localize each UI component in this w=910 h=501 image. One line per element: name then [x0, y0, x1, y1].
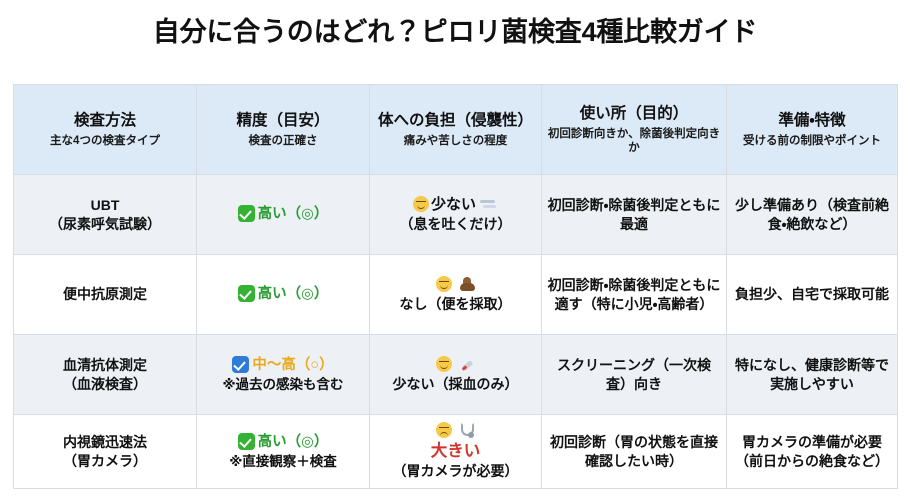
header-row: 検査方法 主な4つの検査タイプ 精度（目安） 検査の正確さ 体への負担（侵襲性）… — [14, 85, 898, 175]
column-header-prep-title: 準備・特徴 — [732, 111, 892, 131]
cell-accuracy: 高い（◎） ※直接観察＋検査 — [197, 415, 370, 489]
method-detail: （尿素呼気試験） — [19, 215, 191, 233]
stethoscope-icon — [459, 422, 475, 438]
accuracy-value-line: 高い（◎） — [202, 285, 364, 304]
cell-accuracy: 中〜高（○） ※過去の感染も含む — [197, 335, 370, 415]
column-header-purpose-title: 使い所（目的） — [547, 104, 721, 124]
column-header-accuracy-subtitle: 検査の正確さ — [202, 134, 364, 148]
column-header-purpose: 使い所（目的） 初回診断向きか、除菌後判定向きか — [542, 85, 727, 175]
comparison-table: 検査方法 主な4つの検査タイプ 精度（目安） 検査の正確さ 体への負担（侵襲性）… — [13, 84, 898, 489]
cell-purpose: スクリーニング（一次検査）向き — [542, 335, 727, 415]
cell-prep: 負担少、自宅で採取可能 — [727, 255, 898, 335]
method-name: 便中抗原測定 — [19, 285, 191, 303]
smiling-face-icon — [413, 196, 429, 212]
smiling-face-icon — [436, 356, 452, 372]
cell-purpose: 初回診断・除菌後判定ともに適す（特に小児・高齢者） — [542, 255, 727, 335]
column-header-purpose-subtitle: 初回診断向きか、除菌後判定向きか — [547, 127, 721, 156]
accuracy-note: ※過去の感染も含む — [202, 376, 364, 394]
cell-accuracy: 高い（◎） — [197, 255, 370, 335]
accuracy-value: 中〜高（○） — [252, 357, 333, 373]
check-green-icon — [238, 205, 255, 222]
cell-accuracy: 高い（◎） — [197, 175, 370, 255]
syringe-icon — [456, 353, 479, 376]
page-title: 自分に合うのはどれ？ピロリ菌検査4種比較ガイド — [0, 0, 910, 49]
cell-purpose: 初回診断（胃の状態を直接確認したい時） — [542, 415, 727, 489]
method-detail: （胃カメラ） — [19, 452, 191, 470]
cell-method: UBT （尿素呼気試験） — [14, 175, 197, 255]
burden-emoji-line — [375, 422, 536, 440]
poop-icon — [459, 277, 475, 291]
burden-value: 少ない — [431, 196, 476, 213]
table-row: 血清抗体測定 （血液検査） 中〜高（○） ※過去の感染も含む 少ない（採血のみ）… — [14, 335, 898, 415]
table-body: UBT （尿素呼気試験） 高い（◎） 少ない （息を吐くだけ） 初回診断・除菌後… — [14, 175, 898, 489]
accuracy-value: 高い（◎） — [258, 434, 329, 450]
check-blue-icon — [232, 356, 249, 373]
table-row: 内視鏡迅速法 （胃カメラ） 高い（◎） ※直接観察＋検査 大きい （胃カメラが必… — [14, 415, 898, 489]
method-name: 内視鏡迅速法 — [19, 433, 191, 451]
cell-burden: なし（便を採取） — [370, 255, 542, 335]
table-header: 検査方法 主な4つの検査タイプ 精度（目安） 検査の正確さ 体への負担（侵襲性）… — [14, 85, 898, 175]
wind-puff-icon — [480, 198, 498, 211]
column-header-method-subtitle: 主な4つの検査タイプ — [19, 134, 191, 148]
worried-face-icon — [436, 422, 452, 438]
accuracy-value-line: 高い（◎） — [202, 205, 364, 224]
table-row: UBT （尿素呼気試験） 高い（◎） 少ない （息を吐くだけ） 初回診断・除菌後… — [14, 175, 898, 255]
check-green-icon — [238, 285, 255, 302]
column-header-method: 検査方法 主な4つの検査タイプ — [14, 85, 197, 175]
burden-detail: （息を吐くだけ） — [375, 215, 536, 233]
burden-emoji-line — [375, 276, 536, 294]
accuracy-value: 高い（◎） — [258, 286, 329, 302]
cell-method: 便中抗原測定 — [14, 255, 197, 335]
cell-burden: 大きい （胃カメラが必要） — [370, 415, 542, 489]
cell-prep: 胃カメラの準備が必要（前日からの絶食など） — [727, 415, 898, 489]
column-header-burden-title: 体への負担（侵襲性） — [375, 111, 536, 131]
method-detail: （血液検査） — [19, 375, 191, 393]
smiling-face-icon — [436, 276, 452, 292]
accuracy-value: 高い（◎） — [258, 206, 329, 222]
column-header-prep-subtitle: 受ける前の制限やポイント — [732, 134, 892, 148]
column-header-prep: 準備・特徴 受ける前の制限やポイント — [727, 85, 898, 175]
burden-value: 大きい — [375, 441, 536, 463]
column-header-burden-subtitle: 痛みや苦しさの程度 — [375, 134, 536, 148]
cell-burden: 少ない （息を吐くだけ） — [370, 175, 542, 255]
cell-method: 内視鏡迅速法 （胃カメラ） — [14, 415, 197, 489]
burden-detail: なし（便を採取） — [375, 295, 536, 313]
comparison-table-container: 検査方法 主な4つの検査タイプ 精度（目安） 検査の正確さ 体への負担（侵襲性）… — [13, 84, 897, 489]
comparison-infographic: 自分に合うのはどれ？ピロリ菌検査4種比較ガイド 検査方法 主な4つの検査タイプ … — [0, 0, 910, 501]
burden-detail: （胃カメラが必要） — [375, 462, 536, 480]
cell-purpose: 初回診断・除菌後判定ともに最適 — [542, 175, 727, 255]
table-row: 便中抗原測定 高い（◎） なし（便を採取） 初回診断・除菌後判定ともに適す（特に… — [14, 255, 898, 335]
cell-prep: 少し準備あり（検査前絶食・絶飲など） — [727, 175, 898, 255]
burden-emoji-line: 少ない — [375, 196, 536, 214]
column-header-accuracy: 精度（目安） 検査の正確さ — [197, 85, 370, 175]
method-name: UBT — [19, 196, 191, 214]
burden-detail: 少ない（採血のみ） — [375, 375, 536, 393]
accuracy-note: ※直接観察＋検査 — [202, 453, 364, 471]
check-green-icon — [238, 433, 255, 450]
accuracy-value-line: 中〜高（○） — [202, 356, 364, 375]
accuracy-value-line: 高い（◎） — [202, 433, 364, 452]
cell-burden: 少ない（採血のみ） — [370, 335, 542, 415]
column-header-burden: 体への負担（侵襲性） 痛みや苦しさの程度 — [370, 85, 542, 175]
column-header-accuracy-title: 精度（目安） — [202, 111, 364, 131]
column-header-method-title: 検査方法 — [19, 111, 191, 131]
cell-method: 血清抗体測定 （血液検査） — [14, 335, 197, 415]
burden-emoji-line — [375, 356, 536, 374]
cell-prep: 特になし、健康診断等で実施しやすい — [727, 335, 898, 415]
method-name: 血清抗体測定 — [19, 356, 191, 374]
